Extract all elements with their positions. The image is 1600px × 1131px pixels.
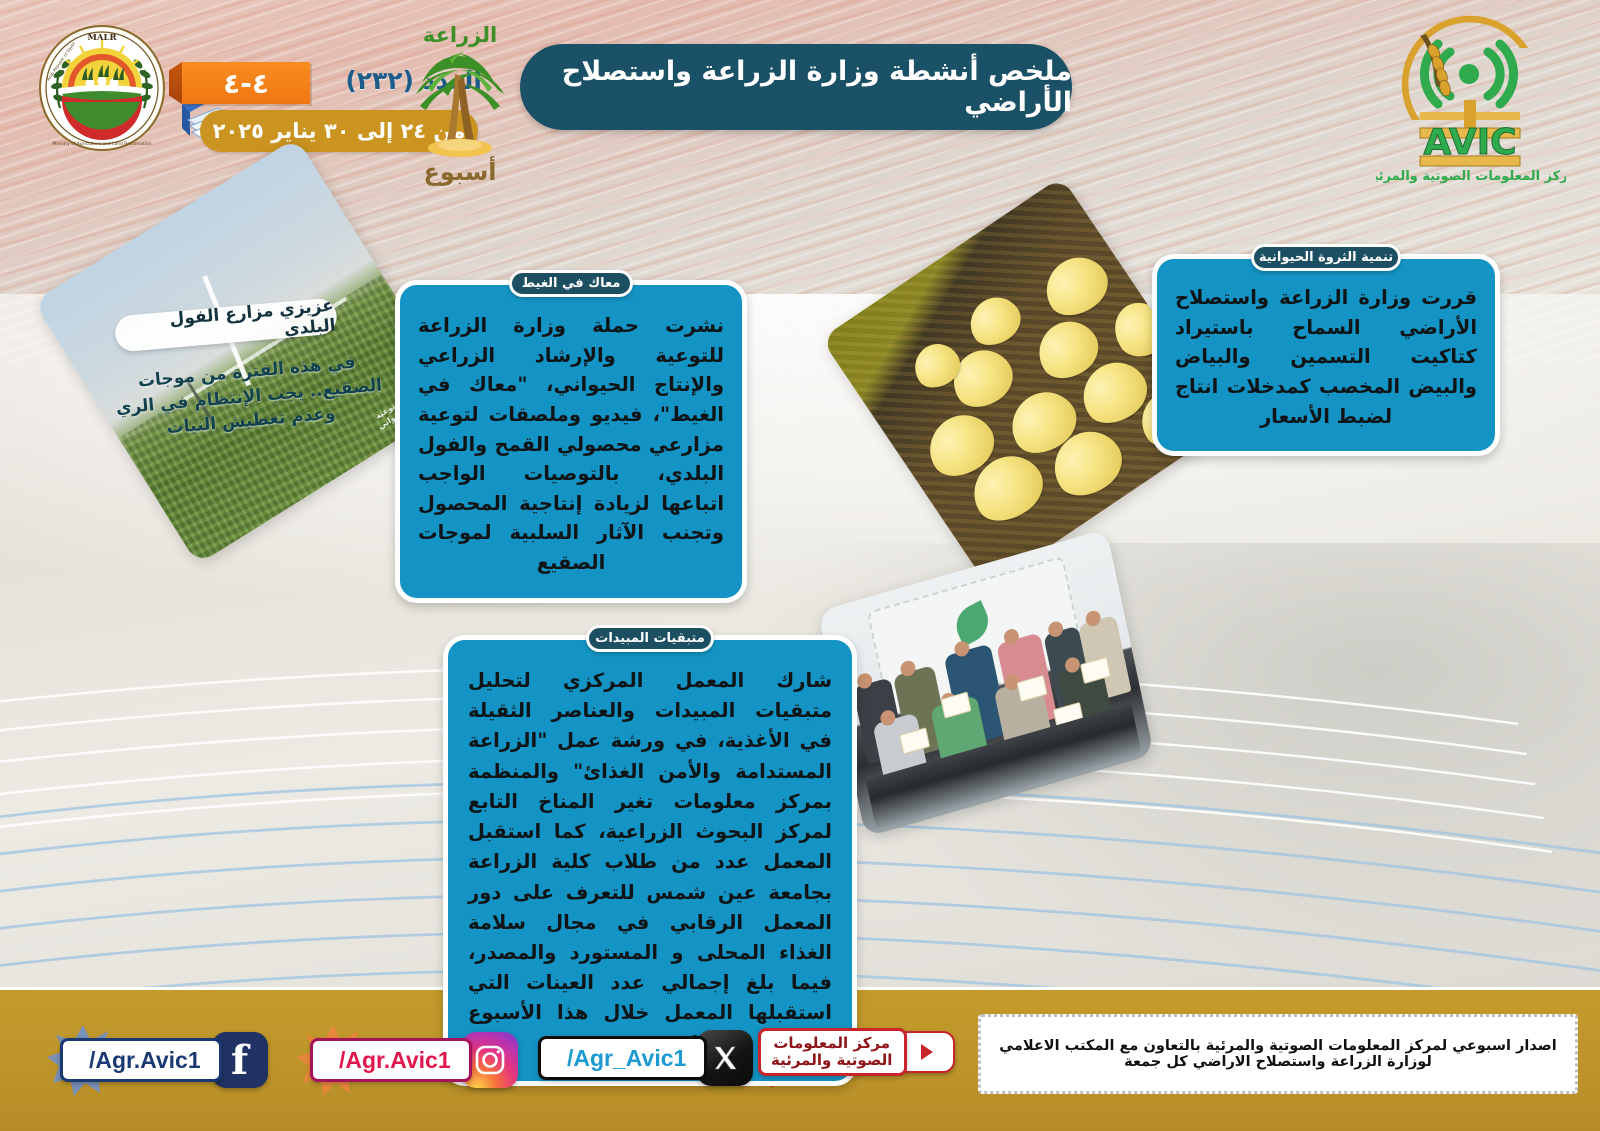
poster-canvas: MALR Ministry of Agriculture and Land Re… — [0, 0, 1600, 1131]
card-body-text: نشرت حملة وزارة الزراعة للتوعية والإرشاد… — [395, 280, 747, 603]
issue-number-tab: ٤-٤ — [182, 62, 310, 104]
svg-text:Ministry of Agriculture and La: Ministry of Agriculture and Land Reclama… — [52, 141, 151, 147]
card-pesticide-residues: متبقيات المبيدات شارك المعمل المركزي لتح… — [443, 625, 857, 1086]
week-logo-top-text: الزراعة — [423, 23, 498, 47]
avic-logo: AVIC مركز المعلومات الصوتية والمرئية — [1376, 12, 1566, 184]
social-instagram[interactable]: /Agr.Avic1 — [310, 1032, 518, 1088]
x-handle[interactable]: /Agr_Avic1 — [538, 1036, 707, 1080]
card-body-text: قررت وزارة الزراعة واستصلاح الأراضي السم… — [1152, 254, 1500, 456]
agriculture-week-logo: الزراعة أسبوع — [398, 16, 522, 188]
footer-note: اصدار اسبوعي لمركز المعلومات الصوتية وال… — [978, 1014, 1578, 1094]
card-tab-label: معاك في الغيط — [509, 270, 633, 297]
page-title: ملخص أنشطة وزارة الزراعة واستصلاح الأراض… — [520, 44, 1072, 130]
instagram-handle[interactable]: /Agr.Avic1 — [310, 1038, 472, 1082]
youtube-handle[interactable]: مركز المعلومات الصوتية والمرئية — [758, 1028, 907, 1076]
social-x[interactable]: /Agr_Avic1 — [538, 1030, 753, 1086]
facebook-handle[interactable]: /Agr.Avic1 — [60, 1038, 222, 1082]
week-logo-bottom-text: أسبوع — [423, 156, 496, 186]
social-facebook[interactable]: f /Agr.Avic1 — [60, 1032, 268, 1088]
social-youtube[interactable]: مركز المعلومات الصوتية والمرئية — [758, 1028, 955, 1076]
malr-logo: MALR Ministry of Agriculture and Land Re… — [38, 24, 166, 152]
card-tab-label: تنمية الثروة الحيوانية — [1251, 244, 1401, 271]
svg-text:MALR: MALR — [87, 33, 117, 43]
card-animal-wealth: تنمية الثروة الحيوانية قررت وزارة الزراع… — [1152, 244, 1500, 456]
card-body-text: شارك المعمل المركزي لتحليل متبقيات المبي… — [443, 635, 857, 1086]
youtube-handle-line2: الصوتية والمرئية — [771, 1052, 892, 1069]
card-maak-fel-gheet: معاك في الغيط نشرت حملة وزارة الزراعة لل… — [395, 270, 747, 603]
youtube-handle-line1: مركز المعلومات — [773, 1035, 890, 1052]
avic-acronym-text: AVIC — [1423, 122, 1516, 163]
avic-subtitle-text: مركز المعلومات الصوتية والمرئية — [1376, 169, 1566, 184]
card-tab-label: متبقيات المبيدات — [586, 625, 714, 652]
